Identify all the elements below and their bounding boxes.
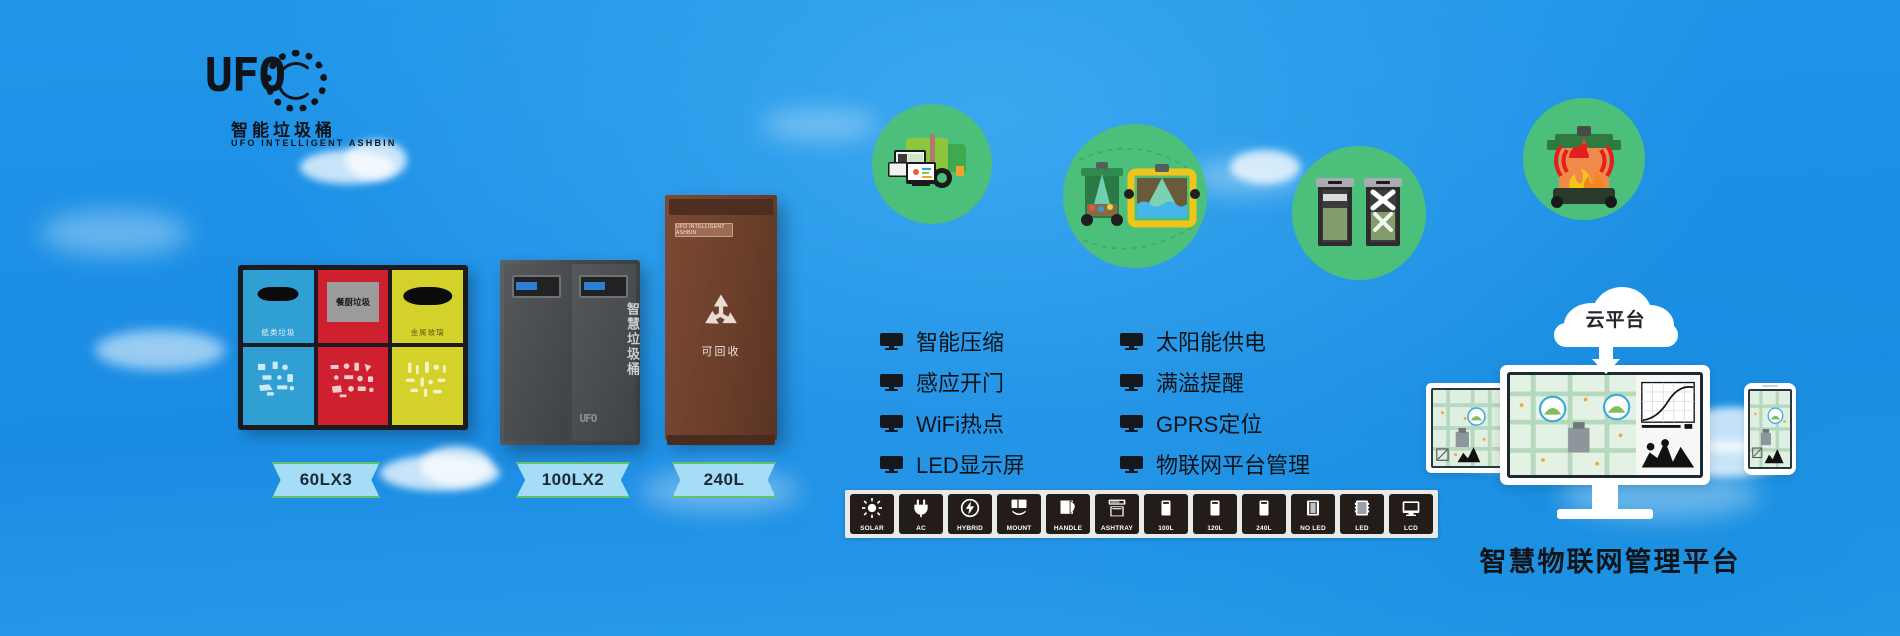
spec-item-no-led[interactable]: NO LED	[1291, 494, 1335, 534]
metal-glass-waste-illustration	[399, 356, 456, 401]
feature-label: 满溢提醒	[1156, 366, 1244, 398]
spec-label: HYBRID	[948, 525, 992, 532]
capacity-ribbon-100lx2: 100LX2	[516, 462, 630, 498]
bin-240l-icon	[1251, 497, 1277, 519]
led-panel-icon	[1349, 497, 1375, 519]
feature-item: 满溢提醒	[1120, 366, 1310, 398]
spec-item-100l[interactable]: 100L	[1144, 494, 1188, 534]
dashboard-content	[1510, 375, 1700, 475]
compartment-label: 纸类垃圾	[261, 327, 295, 338]
monitor-icon	[880, 333, 903, 350]
spec-item-ac[interactable]: AC	[899, 494, 943, 534]
bin-compartment: 纸类垃圾	[243, 270, 314, 425]
kitchen-waste-illustration	[325, 356, 382, 401]
ultrasonic-fill-sensor-icon	[1063, 124, 1207, 268]
feature-label: 太阳能供电	[1156, 325, 1266, 357]
feature-label: LED显示屏	[916, 448, 1025, 480]
spec-label: ASHTRAY	[1095, 525, 1139, 532]
feature-circle-fire-alarm	[1523, 98, 1645, 220]
spec-item-lcd[interactable]: LCD	[1389, 494, 1433, 534]
bin-recycle-label: 可回收	[665, 343, 777, 359]
feature-item: LED显示屏	[880, 448, 1070, 480]
spec-item-ashtray[interactable]: ASHTRAY	[1095, 494, 1139, 534]
dotted-ring-inner-icon	[277, 62, 315, 100]
bin-compaction-cutaway-icon	[1292, 146, 1426, 280]
fire-alarm-bin-icon	[1523, 98, 1645, 220]
power-plug-icon	[908, 497, 934, 519]
bin-vertical-label: 智慧垃圾桶	[624, 302, 642, 377]
tablet-screen	[1431, 388, 1503, 468]
background-cloud	[420, 446, 492, 486]
phone-screen	[1748, 389, 1792, 469]
brand-logo: UFO 智能垃圾桶 UFO INTELLIGENT ASHBIN	[205, 52, 345, 157]
waste-slot-icon	[403, 287, 452, 304]
bin-display-panel	[512, 275, 561, 298]
feature-label: 感应开门	[916, 366, 1004, 398]
city-map-panel	[1750, 391, 1790, 467]
monitor-neck	[1592, 485, 1618, 511]
capacity-label: 60LX3	[300, 470, 353, 490]
background-cloud	[760, 110, 880, 140]
bin-120l-icon	[1202, 497, 1228, 519]
spec-icon-strip: SOLAR AC HYBRID	[845, 490, 1438, 538]
feature-label: GPRS定位	[1156, 407, 1262, 439]
promotional-banner: UFO 智能垃圾桶 UFO INTELLIGENT ASHBIN 纸类垃圾	[0, 0, 1900, 636]
monitor-foot	[1557, 509, 1653, 519]
feature-label: 智能压缩	[916, 325, 1004, 357]
phone-speaker	[1762, 385, 1778, 387]
iot-platform-diagram: 云平台	[1430, 295, 1790, 525]
bin-lid	[669, 199, 773, 215]
bin-recycling: UFO INTELLIGENT ASHBIN 可回收	[665, 195, 777, 440]
feature-label: WiFi热点	[916, 407, 1004, 439]
feature-circle-fill-level	[1063, 124, 1207, 268]
capacity-ribbon-240l: 240L	[672, 462, 776, 498]
cloud-label-bubble: 云平台	[1548, 285, 1683, 347]
capacity-label: 240L	[704, 470, 745, 490]
spec-item-solar[interactable]: SOLAR	[850, 494, 894, 534]
feature-item: 太阳能供电	[1120, 325, 1310, 357]
monitor-icon	[880, 374, 903, 391]
bin-display-panel	[579, 275, 628, 298]
platform-title: 智慧物联网管理平台	[1440, 540, 1780, 579]
ashtray-icon	[1104, 497, 1130, 519]
city-map-panel	[1433, 390, 1501, 466]
feature-circle-truck-dispatch	[872, 104, 992, 224]
spec-label: MOUNT	[997, 525, 1041, 532]
dashboard-screen	[1507, 372, 1703, 478]
handle-icon	[1055, 497, 1081, 519]
bin-three-compartment: 纸类垃圾	[238, 265, 468, 430]
spec-item-mount[interactable]: MOUNT	[997, 494, 1041, 534]
feature-item: 物联网平台管理	[1120, 448, 1310, 480]
bin-brand-tag: UFO INTELLIGENT ASHBIN	[675, 223, 733, 237]
spec-item-hybrid[interactable]: HYBRID	[948, 494, 992, 534]
smartphone-device	[1744, 383, 1796, 475]
no-led-icon	[1300, 497, 1326, 519]
spec-item-handle[interactable]: HANDLE	[1046, 494, 1090, 534]
feature-item: 智能压缩	[880, 325, 1070, 357]
bin-base	[667, 435, 775, 445]
spec-label: NO LED	[1291, 525, 1335, 532]
waste-slot-icon	[258, 287, 299, 301]
hybrid-power-icon	[957, 497, 983, 519]
spec-label: SOLAR	[850, 525, 894, 532]
monitor-icon	[1120, 333, 1143, 350]
spec-label: 240L	[1242, 525, 1286, 532]
spec-label: AC	[899, 525, 943, 532]
bin-100l-icon	[1153, 497, 1179, 519]
feature-item: GPRS定位	[1120, 407, 1310, 439]
monitor-icon	[1120, 456, 1143, 473]
monitor-icon	[1120, 415, 1143, 432]
bin-half	[504, 264, 569, 441]
desktop-monitor	[1500, 365, 1710, 485]
monitor-icon	[880, 415, 903, 432]
bin-brand-mark: UFO	[580, 412, 597, 425]
spec-label: HANDLE	[1046, 525, 1090, 532]
spec-item-120l[interactable]: 120L	[1193, 494, 1237, 534]
spec-label: LCD	[1389, 525, 1433, 532]
capacity-label: 100LX2	[542, 470, 605, 490]
spec-item-240l[interactable]: 240L	[1242, 494, 1286, 534]
background-cloud	[380, 455, 500, 491]
background-cloud	[95, 330, 225, 370]
recycle-icon	[698, 290, 744, 336]
monitor-icon	[880, 456, 903, 473]
bin-compartment: 金属玻璃	[392, 270, 463, 425]
spec-item-led[interactable]: LED	[1340, 494, 1384, 534]
feature-list: 智能压缩 太阳能供电 感应开门 满溢提醒 WiFi热点 GPRS定位 LED显示…	[880, 325, 1310, 480]
wall-mount-icon	[1006, 497, 1032, 519]
logo-english-tagline: UFO INTELLIGENT ASHBIN	[231, 138, 397, 148]
spec-label: LED	[1340, 525, 1384, 532]
feature-item: 感应开门	[880, 366, 1070, 398]
monitor-icon	[1120, 374, 1143, 391]
background-cloud	[1230, 150, 1300, 184]
capacity-ribbon-60lx3: 60LX3	[272, 462, 380, 498]
lcd-screen-icon	[1398, 497, 1424, 519]
sun-icon	[859, 497, 885, 519]
tablet-device	[1426, 383, 1508, 473]
feature-item: WiFi热点	[880, 407, 1070, 439]
bin-compartment: 餐厨垃圾	[318, 270, 389, 425]
paper-waste-illustration	[250, 356, 307, 401]
compartment-label: 金属玻璃	[411, 327, 445, 338]
bin-smart-dual: UFO 智慧垃圾桶	[500, 260, 640, 445]
spec-label: 120L	[1193, 525, 1237, 532]
garbage-truck-with-devices-icon	[872, 104, 992, 224]
cloud-label: 云平台	[1548, 305, 1683, 332]
spec-label: 100L	[1144, 525, 1188, 532]
compartment-screen: 餐厨垃圾	[327, 282, 379, 322]
background-cloud	[40, 210, 190, 256]
compartment-label: 餐厨垃圾	[336, 296, 370, 308]
line-chart-panel	[1642, 383, 1694, 429]
feature-label: 物联网平台管理	[1156, 448, 1310, 480]
feature-circle-compaction	[1292, 146, 1426, 280]
